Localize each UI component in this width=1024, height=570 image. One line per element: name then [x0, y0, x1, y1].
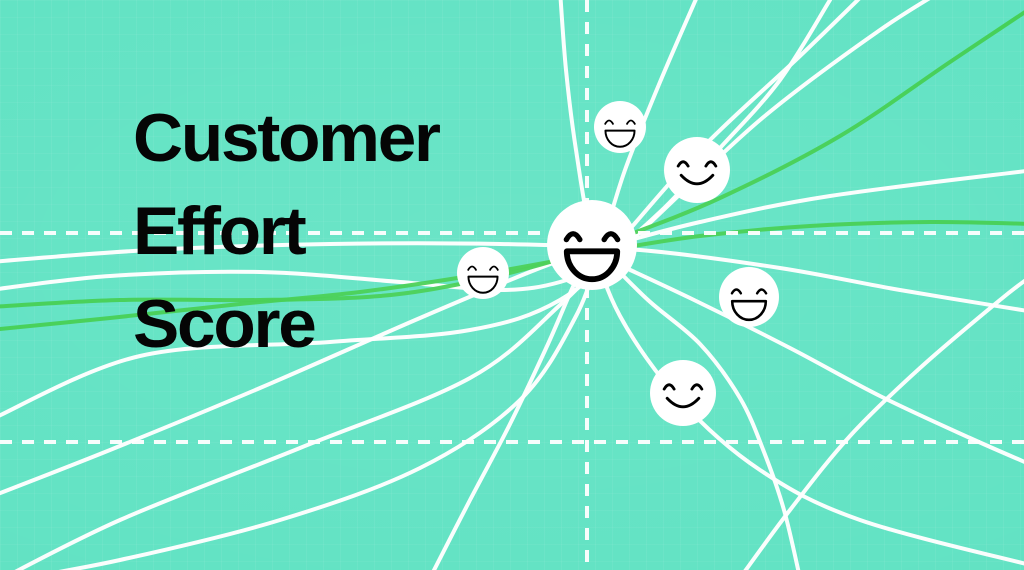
emoji-face-3: [547, 200, 637, 290]
emoji-face-5: [719, 267, 779, 327]
poster-canvas: Customer Effort Score: [0, 0, 1024, 570]
title-line-1: Customer: [133, 92, 439, 185]
emoji-face-1: [594, 101, 646, 153]
mouth-open: [567, 251, 617, 279]
emoji-face-2: [664, 137, 730, 203]
emoji-face-6: [650, 360, 716, 426]
face-circle: [650, 360, 716, 426]
page-title: Customer Effort Score: [133, 92, 433, 371]
title-line-3: Score: [133, 278, 439, 371]
title-line-2: Effort: [133, 185, 439, 278]
emoji-face-4: [457, 247, 509, 299]
face-circle: [664, 137, 730, 203]
